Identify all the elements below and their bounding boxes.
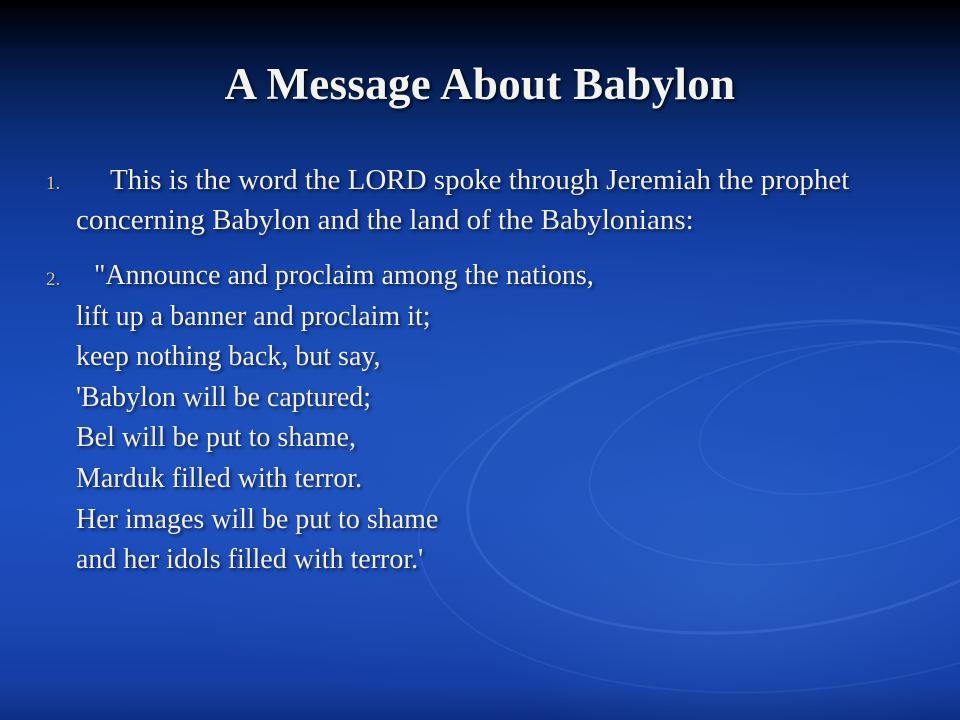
list-item-body: "Announce and proclaim among the nations…	[76, 260, 594, 575]
list-item-body: This is the word the LORD spoke through …	[76, 164, 849, 236]
list-item: 2. "Announce and proclaim among the nati…	[46, 256, 926, 581]
list-item-text: "Announce and proclaim among the nations…	[76, 256, 926, 581]
slide-body: 1. This is the word the LORD spoke throu…	[46, 160, 926, 581]
list-item-number: 2.	[46, 256, 76, 289]
slide-title: A Message About Babylon	[0, 58, 960, 110]
list-item: 1. This is the word the LORD spoke throu…	[46, 160, 926, 240]
list-item-number: 1.	[46, 160, 76, 193]
list-item-text: This is the word the LORD spoke through …	[76, 160, 926, 240]
presentation-slide: A Message About Babylon 1. This is the w…	[0, 0, 960, 720]
